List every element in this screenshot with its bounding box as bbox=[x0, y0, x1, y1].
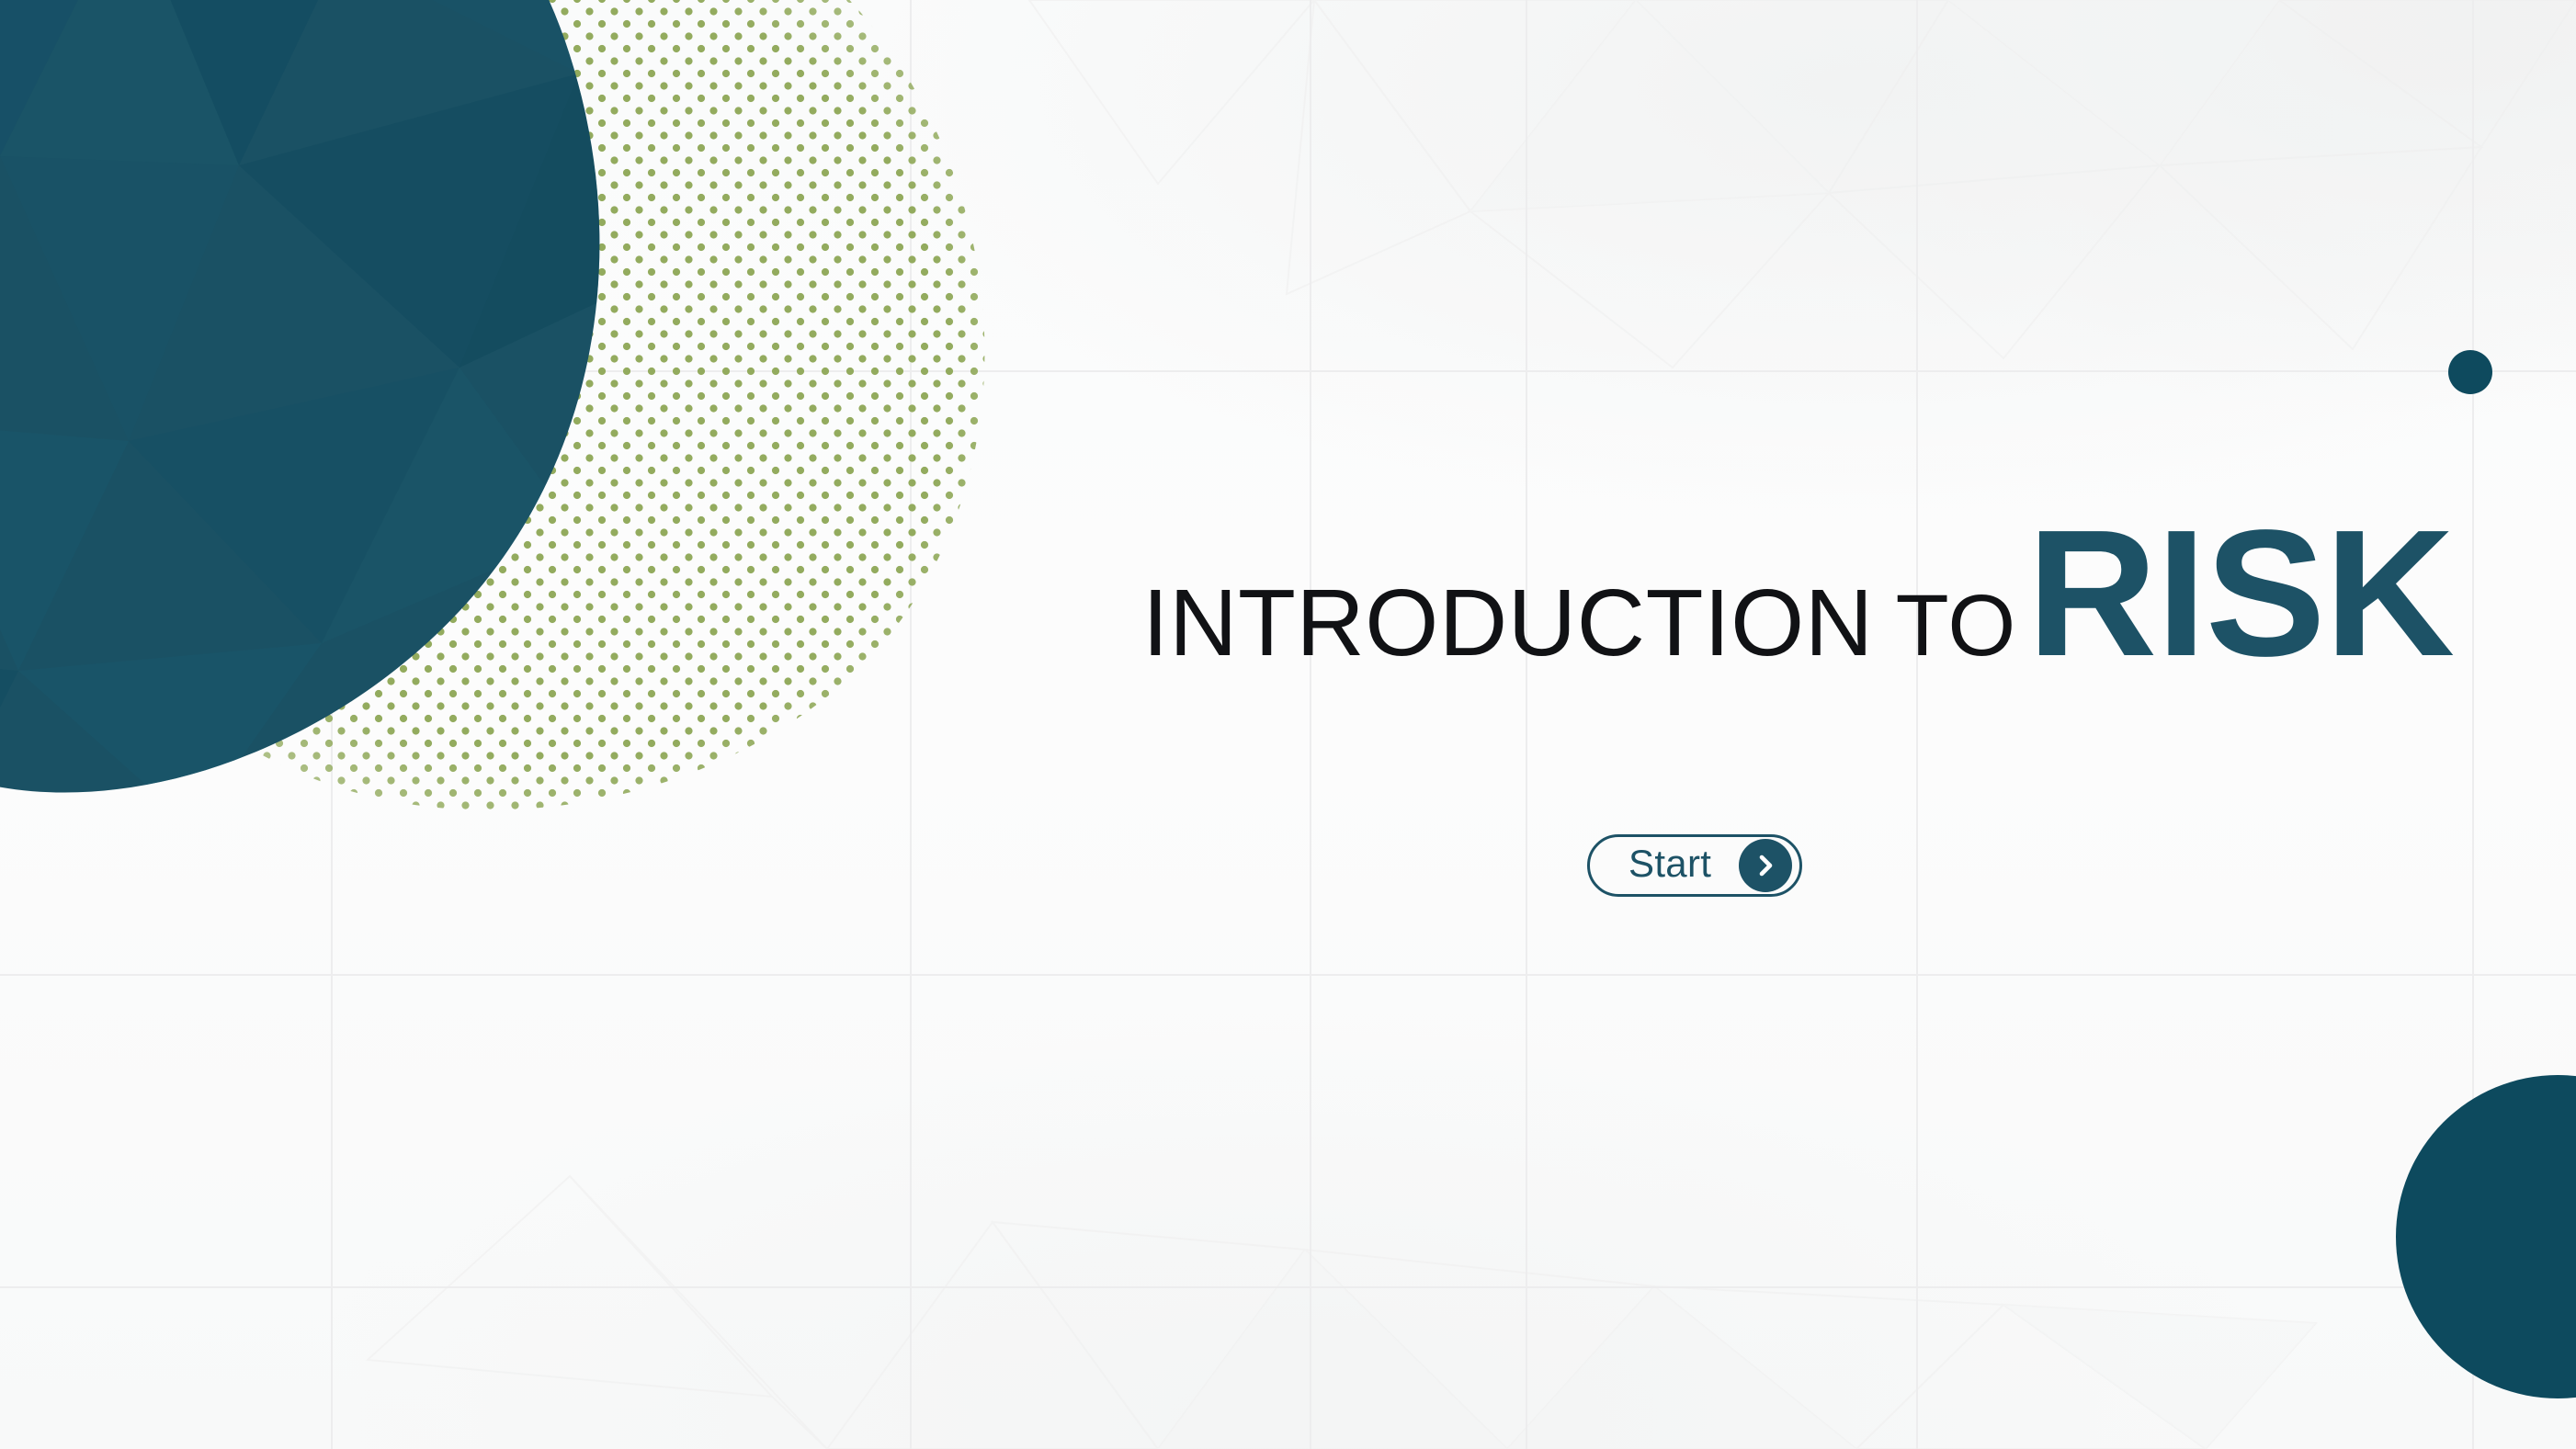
title-accent-text: RISK bbox=[2027, 504, 2454, 684]
start-button[interactable]: Start bbox=[1587, 834, 1802, 897]
page-title: INTRODUCTION TO RISK bbox=[1142, 504, 2454, 684]
title-slide: INTRODUCTION TO RISK Start bbox=[0, 0, 2576, 1449]
title-preposition-text: TO bbox=[1896, 583, 2016, 670]
chevron-right-circle-icon bbox=[1739, 839, 1792, 892]
title-lead-text: INTRODUCTION bbox=[1142, 575, 1874, 670]
start-button-label: Start bbox=[1628, 844, 1711, 883]
teal-polygon-blob bbox=[0, 0, 800, 937]
accent-dot bbox=[2448, 350, 2492, 394]
